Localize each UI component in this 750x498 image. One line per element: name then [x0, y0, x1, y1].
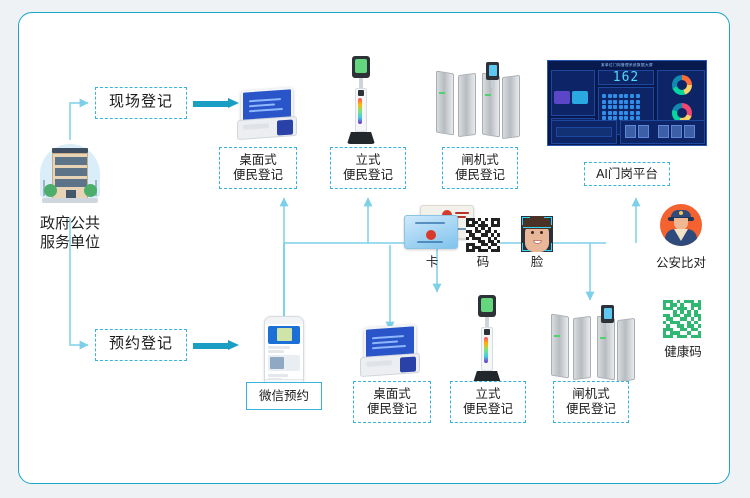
health-qr-code-icon [663, 300, 701, 338]
dashboard-screen-icon: 某单位门岗管理系统数据大屏 162 [547, 60, 707, 146]
police-officer-icon [660, 204, 702, 246]
auth-label-code: 码 [455, 255, 511, 270]
desktop-kiosk-icon [360, 325, 424, 379]
turnstile-gate-icon [434, 62, 520, 140]
device-label-standing-bottom[interactable]: 立式 便民登记 [450, 381, 526, 423]
flow-label-onsite[interactable]: 现场登记 [95, 87, 187, 119]
dashboard-screen-title: 某单位门岗管理系统数据大屏 [548, 63, 706, 68]
turnstile-gate-icon [549, 305, 635, 383]
arrow-appointment [193, 340, 239, 351]
flow-label-appointment[interactable]: 预约登记 [95, 329, 187, 361]
health-code-label: 健康码 [652, 345, 714, 360]
government-building-icon [32, 140, 108, 212]
qr-code-icon [466, 218, 500, 252]
desktop-kiosk-icon [237, 88, 301, 142]
arrow-onsite [193, 98, 239, 109]
smartphone-wechat-icon [264, 316, 304, 390]
source-label: 政府公共 服务单位 [10, 215, 130, 253]
id-card-icon [404, 205, 472, 249]
auth-label-face: 脸 [509, 255, 565, 270]
standing-kiosk-icon [344, 56, 378, 148]
face-recognition-icon [521, 216, 553, 252]
police-check-label: 公安比对 [641, 256, 721, 271]
device-label-desktop-top[interactable]: 桌面式 便民登记 [219, 147, 297, 189]
platform-label[interactable]: AI门岗平台 [584, 162, 670, 186]
device-label-gate-top[interactable]: 闸机式 便民登记 [442, 147, 518, 189]
dashboard-kpi-value: 162 [598, 70, 654, 85]
device-label-desktop-bottom[interactable]: 桌面式 便民登记 [353, 381, 431, 423]
standing-kiosk-icon [470, 295, 504, 387]
device-label-standing-top[interactable]: 立式 便民登记 [330, 147, 406, 189]
device-label-gate-bottom[interactable]: 闸机式 便民登记 [553, 381, 629, 423]
auth-label-card: 卡 [404, 255, 460, 270]
wechat-label[interactable]: 微信预约 [246, 382, 322, 410]
